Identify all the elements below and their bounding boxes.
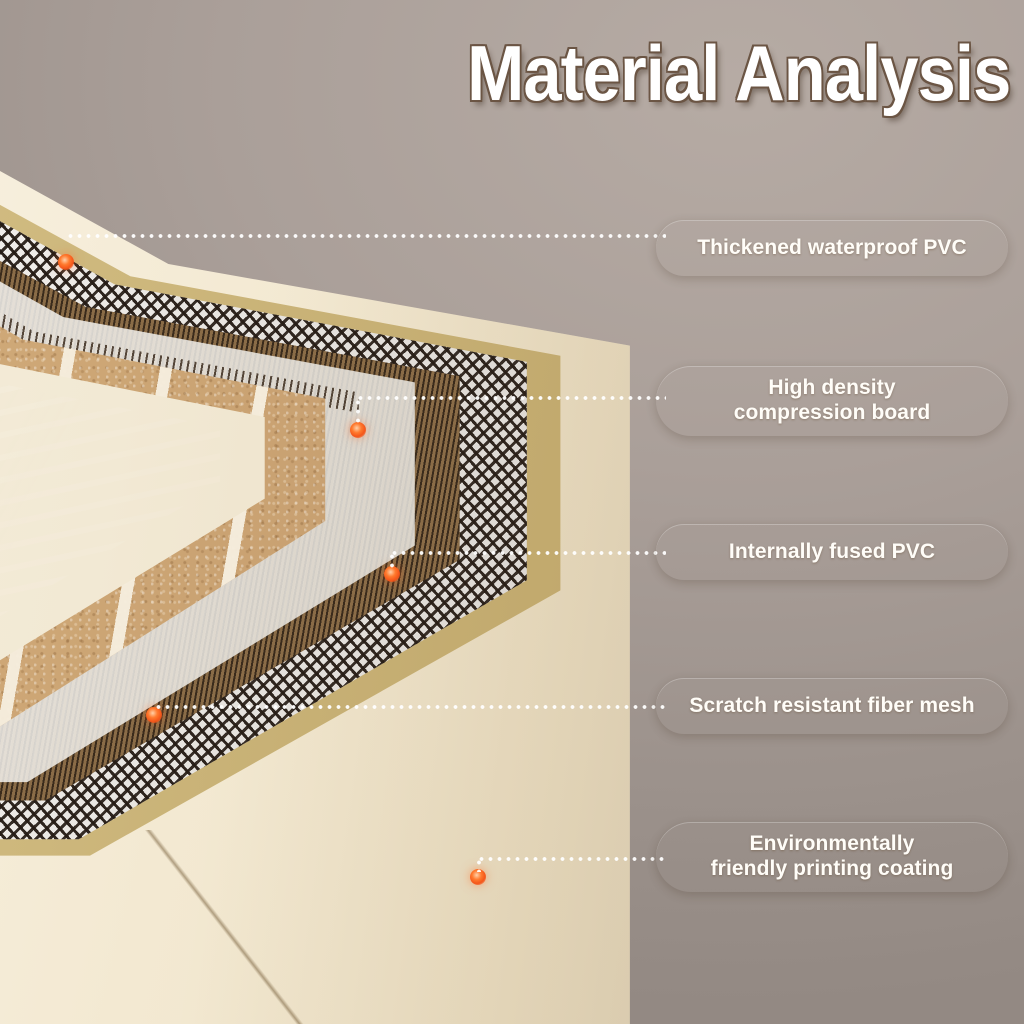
connector-line-2-vertical	[356, 398, 360, 426]
callout-pill-3[interactable]: Internally fused PVC	[656, 524, 1008, 580]
callout-label-3: Internally fused PVC	[729, 540, 935, 565]
callout-label-5-line1: Environmentally	[750, 832, 915, 857]
callout-environmentally-friendly-printing-coating[interactable]: Environmentally friendly printing coatin…	[656, 822, 1008, 892]
callout-label-2-line2: compression board	[734, 401, 931, 426]
callout-pill-2[interactable]: High density compression board	[656, 366, 1008, 436]
callout-pill-5[interactable]: Environmentally friendly printing coatin…	[656, 822, 1008, 892]
hotspot-marker-4[interactable]	[146, 707, 162, 723]
callout-internally-fused-pvc[interactable]: Internally fused PVC	[656, 524, 1008, 580]
callout-label-1: Thickened waterproof PVC	[697, 236, 967, 261]
body-seam-line	[90, 830, 450, 1024]
connector-line-3	[390, 551, 666, 555]
connector-line-4	[154, 705, 666, 709]
callout-high-density-compression-board[interactable]: High density compression board	[656, 366, 1008, 436]
product-cross-section	[0, 60, 650, 1024]
callout-pill-4[interactable]: Scratch resistant fiber mesh	[656, 678, 1008, 734]
hotspot-marker-1[interactable]	[58, 254, 74, 270]
connector-line-2	[356, 396, 666, 400]
connector-line-5	[477, 857, 667, 861]
connector-line-1	[66, 234, 666, 238]
material-analysis-infographic: Material Analysis Thickened waterproof P…	[0, 0, 1024, 1024]
callout-label-5-line2: friendly printing coating	[711, 857, 954, 882]
callout-scratch-resistant-fiber-mesh[interactable]: Scratch resistant fiber mesh	[656, 678, 1008, 734]
callout-label-2-line1: High density	[768, 376, 895, 401]
page-title: Material Analysis	[467, 28, 1010, 119]
callout-label-4: Scratch resistant fiber mesh	[689, 694, 974, 719]
callout-pill-1[interactable]: Thickened waterproof PVC	[656, 220, 1008, 276]
callout-thickened-waterproof-pvc[interactable]: Thickened waterproof PVC	[656, 220, 1008, 276]
